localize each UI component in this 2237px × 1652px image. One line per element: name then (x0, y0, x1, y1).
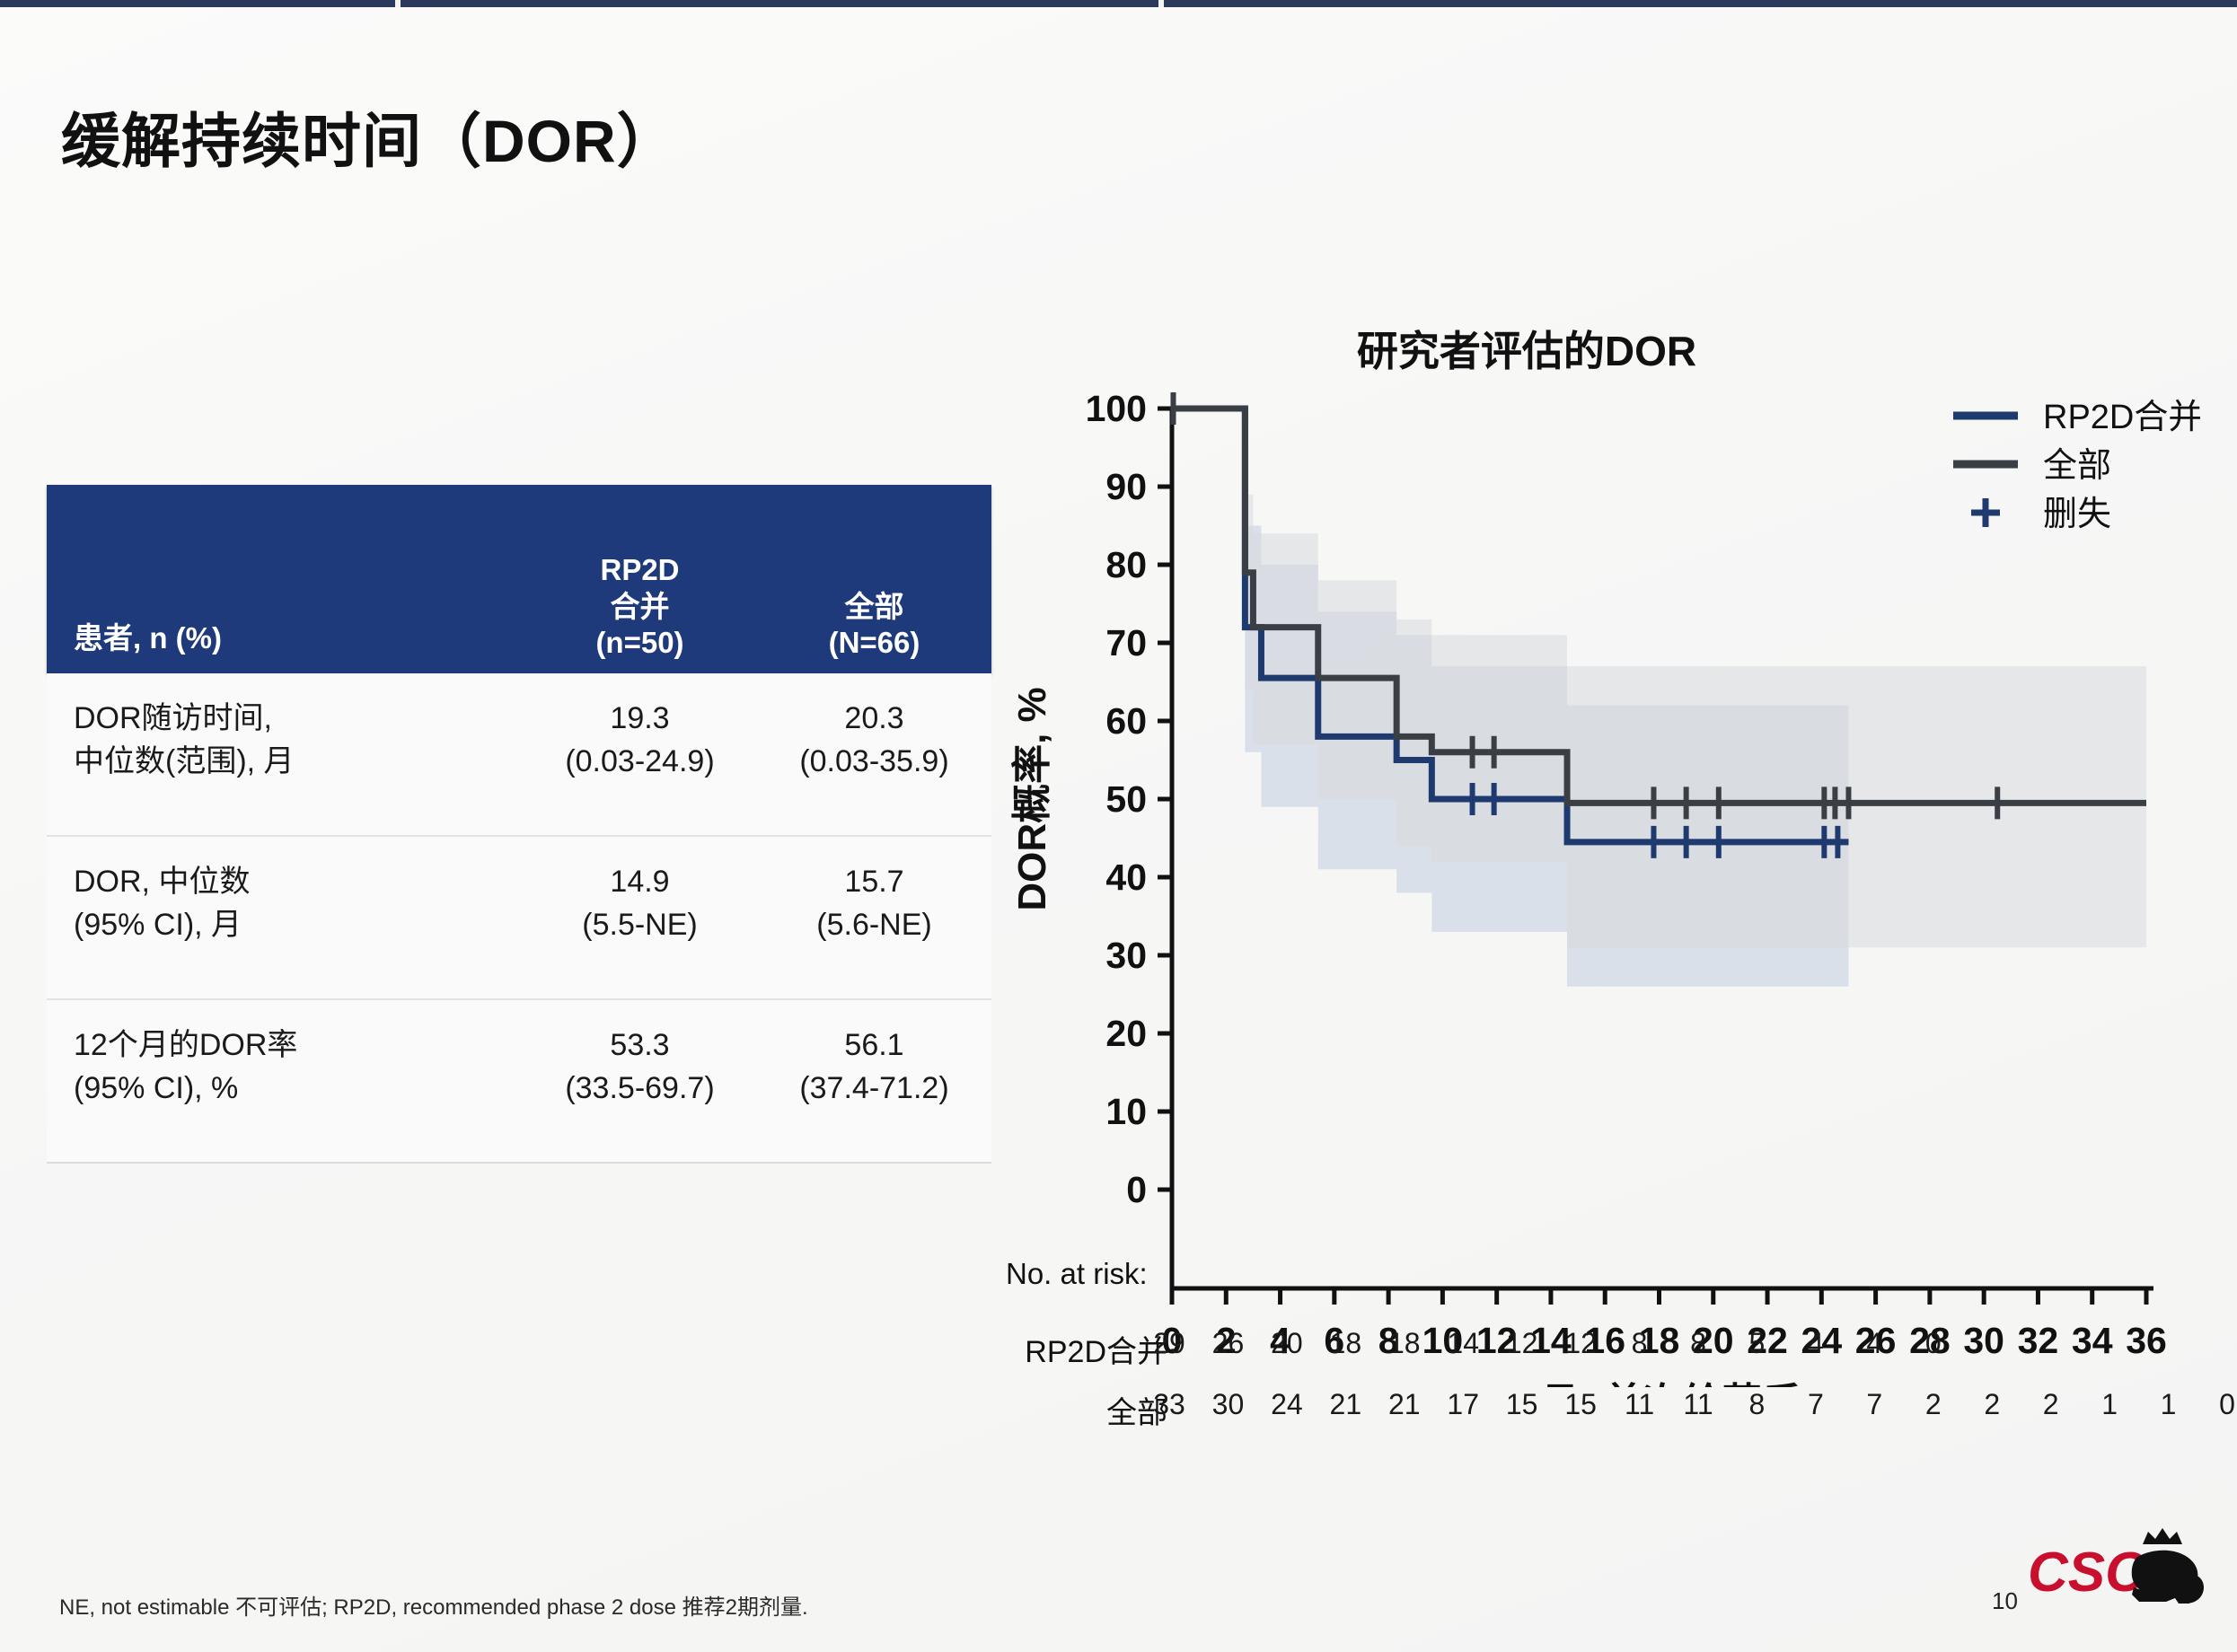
value-range: (5.6-NE) (757, 903, 991, 946)
table-row: DOR, 中位数 (95% CI), 月 14.9 (5.5-NE) 15.7 … (47, 837, 991, 1000)
risk-cell: 21 (1330, 1388, 1362, 1421)
footnote: NE, not estimable 不可评估; RP2D, recommende… (59, 1589, 808, 1621)
risk-row-all: 全部 33302421211715151111877222110 (1006, 1388, 2227, 1440)
value-main: 53.3 (523, 1024, 757, 1067)
dor-summary-table: 患者, n (%) RP2D 合并 (n=50) 全部 (N=66) DOR随访… (47, 485, 991, 1164)
risk-cell: 11 (1625, 1388, 1654, 1421)
risk-cell: 1 (2161, 1388, 2177, 1421)
row-label-line2: 中位数(范围), 月 (74, 740, 523, 783)
value-main: 14.9 (523, 860, 757, 903)
risk-heading: No. at risk: (1006, 1257, 1148, 1291)
all-line1: 全部 (845, 589, 904, 625)
y-tick-label: 100 (1086, 391, 1147, 429)
value-range: (37.4-71.2) (757, 1067, 991, 1110)
legend-label-2: 删失 (2043, 496, 2111, 533)
risk-cell: 14 (1447, 1327, 1479, 1360)
all-line2: (N=66) (829, 625, 920, 661)
risk-cell: 26 (1212, 1327, 1245, 1360)
value-range: (33.5-69.7) (523, 1067, 757, 1110)
rp2d-line3: (n=50) (595, 625, 683, 661)
top-accent-bar (0, 0, 2237, 7)
row-label-line2: (95% CI), % (74, 1067, 523, 1110)
risk-cell: 18 (1330, 1327, 1362, 1360)
y-tick-label: 30 (1105, 935, 1147, 976)
risk-cell: 15 (1564, 1388, 1597, 1421)
row-label: DOR, 中位数 (95% CI), 月 (47, 837, 523, 998)
row-value-all: 56.1 (37.4-71.2) (757, 1000, 991, 1162)
risk-cell: 24 (1271, 1388, 1303, 1421)
risk-cell: 17 (1447, 1388, 1479, 1421)
risk-cell: 5 (1749, 1327, 1766, 1360)
y-tick-label: 60 (1105, 700, 1147, 742)
row-label-line1: 12个月的DOR率 (74, 1024, 523, 1067)
risk-cell: 11 (1683, 1388, 1713, 1421)
value-main: 15.7 (757, 860, 991, 903)
risk-cell: 0 (1925, 1327, 1942, 1360)
y-tick-label: 70 (1105, 622, 1147, 663)
value-range: (0.03-24.9) (523, 740, 757, 783)
value-main: 20.3 (757, 697, 991, 740)
risk-cell: 0 (2219, 1388, 2235, 1421)
risk-cell: 21 (1388, 1388, 1421, 1421)
table-row: 12个月的DOR率 (95% CI), % 53.3 (33.5-69.7) 5… (47, 1000, 991, 1164)
risk-row-label: RP2D合并 (1025, 1327, 1167, 1371)
csco-logo: CSCO (2028, 1517, 2207, 1616)
chart-title: 研究者评估的DOR (1006, 319, 2048, 378)
table-header-all: 全部 (N=66) (757, 485, 991, 673)
risk-cell: 12 (1564, 1327, 1597, 1360)
risk-cell: 2 (2043, 1388, 2059, 1421)
y-tick-label: 20 (1105, 1013, 1147, 1054)
y-axis-title: DOR概率, % (1010, 687, 1054, 910)
page-number: 10 (1992, 1587, 2018, 1615)
risk-row-rp2d: RP2D合并 2926201818141212885440 (1006, 1327, 2227, 1379)
row-label: 12个月的DOR率 (95% CI), % (47, 1000, 523, 1162)
table-header-patients: 患者, n (%) (47, 485, 523, 673)
risk-values: 33302421211715151111877222110 (1169, 1388, 2227, 1440)
rp2d-line2: 合并 (611, 589, 670, 625)
value-range: (5.5-NE) (523, 903, 757, 946)
risk-cell: 4 (1808, 1327, 1824, 1360)
x-axis-title: 月 (首次给药后) (1540, 1381, 1815, 1387)
row-value-rp2d: 53.3 (33.5-69.7) (523, 1000, 757, 1162)
risk-cell: 18 (1388, 1327, 1421, 1360)
risk-cell: 8 (1749, 1388, 1766, 1421)
row-value-rp2d: 14.9 (5.5-NE) (523, 837, 757, 998)
table-header-row: 患者, n (%) RP2D 合并 (n=50) 全部 (N=66) (47, 485, 991, 673)
row-label-line2: (95% CI), 月 (74, 903, 523, 946)
risk-cell: 4 (1866, 1327, 1882, 1360)
y-tick-label: 10 (1105, 1091, 1147, 1132)
risk-cell: 1 (2101, 1388, 2118, 1421)
dor-km-chart: 研究者评估的DOR 0102030405060708090100DOR概率, %… (1006, 319, 2200, 1459)
risk-cell: 2 (1925, 1388, 1942, 1421)
risk-cell: 8 (1690, 1327, 1706, 1360)
y-tick-label: 50 (1105, 778, 1147, 820)
risk-cell: 7 (1866, 1388, 1882, 1421)
risk-cell: 7 (1808, 1388, 1824, 1421)
row-label-line1: DOR随访时间, (74, 697, 523, 740)
risk-cell: 29 (1153, 1327, 1185, 1360)
page-title: 缓解持续时间（DOR） (61, 93, 677, 180)
slide-canvas: 缓解持续时间（DOR） 患者, n (%) RP2D 合并 (n=50) 全部 … (0, 0, 2237, 1652)
value-range: (0.03-35.9) (757, 740, 991, 783)
legend-label-1: 全部 (2043, 447, 2111, 485)
csco-lion-icon (2132, 1528, 2204, 1604)
table-header-rp2d: RP2D 合并 (n=50) (523, 485, 757, 673)
risk-cell: 20 (1271, 1327, 1303, 1360)
value-main: 19.3 (523, 697, 757, 740)
value-main: 56.1 (757, 1024, 991, 1067)
risk-cell: 15 (1506, 1388, 1538, 1421)
y-tick-label: 90 (1105, 466, 1147, 507)
risk-cell: 33 (1153, 1388, 1185, 1421)
risk-cell: 30 (1212, 1388, 1245, 1421)
row-value-all: 20.3 (0.03-35.9) (757, 673, 991, 835)
row-value-rp2d: 19.3 (0.03-24.9) (523, 673, 757, 835)
legend-label-0: RP2D合并 (2043, 399, 2200, 436)
y-tick-label: 80 (1105, 544, 1147, 585)
row-label-line1: DOR, 中位数 (74, 860, 523, 903)
risk-cell: 12 (1506, 1327, 1538, 1360)
row-label: DOR随访时间, 中位数(范围), 月 (47, 673, 523, 835)
y-tick-label: 0 (1126, 1169, 1147, 1210)
table-row: DOR随访时间, 中位数(范围), 月 19.3 (0.03-24.9) 20.… (47, 673, 991, 837)
risk-cell: 2 (1984, 1388, 2000, 1421)
rp2d-line1: RP2D (600, 552, 679, 588)
risk-values: 2926201818141212885440 (1169, 1327, 2227, 1379)
risk-cell: 8 (1632, 1327, 1648, 1360)
y-tick-label: 40 (1105, 857, 1147, 898)
kaplan-meier-plot: 0102030405060708090100DOR概率, %0246810121… (1006, 391, 2200, 1387)
row-value-all: 15.7 (5.6-NE) (757, 837, 991, 998)
